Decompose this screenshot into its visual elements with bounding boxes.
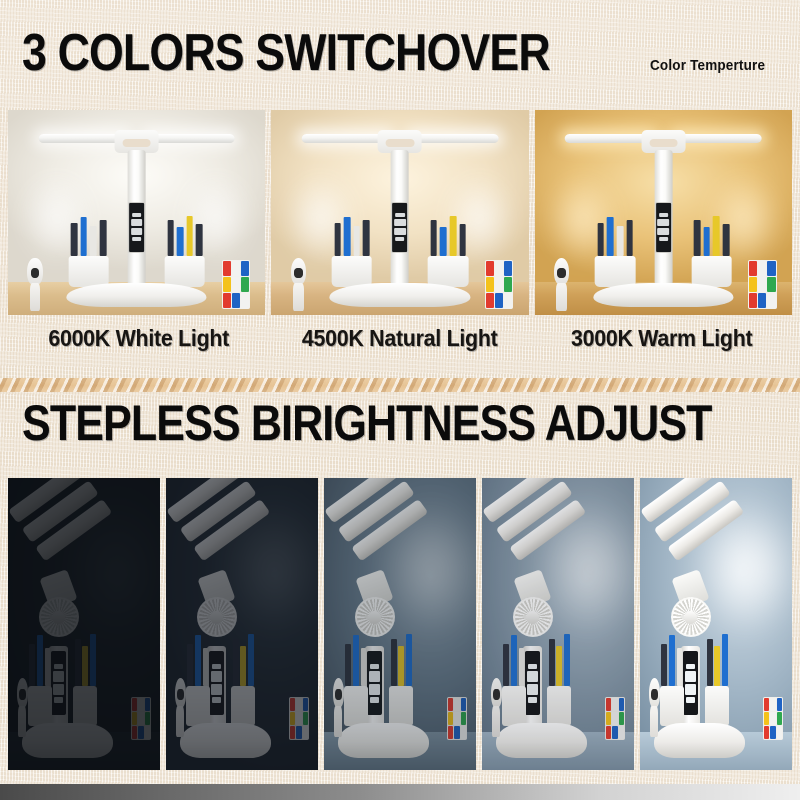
subtitle-color-temperature: Color Temperture (650, 57, 765, 74)
lamp-product (300, 126, 501, 306)
lcd-clock-display (367, 651, 382, 715)
pen-holder-right (705, 686, 729, 726)
lamp-base (22, 723, 113, 758)
page-title-brightness: STEPLESS BIRIGHTNESS ADJUST (22, 400, 712, 446)
lamp-product (36, 126, 237, 306)
led-arm (324, 478, 448, 589)
caption-3000k: 3000K Warm Light (540, 325, 783, 352)
lamp-base (338, 723, 429, 758)
led-bar-right-icon (673, 134, 761, 143)
pen-holder-left (502, 686, 526, 726)
pen-holder-right (231, 686, 255, 726)
rubiks-cube (763, 697, 783, 740)
infographic-page: 3 COLORS SWITCHOVER Color Temperture (0, 0, 800, 800)
pen-holder-left (68, 256, 108, 287)
lamp-product (17, 490, 151, 759)
pens-right (430, 210, 465, 256)
pens-right (694, 210, 729, 256)
pen-holder-left (332, 256, 372, 287)
robot-figurine (648, 678, 661, 737)
pens-left (71, 210, 106, 256)
lamp-product (175, 490, 309, 759)
led-bar-right-icon (410, 134, 498, 143)
pen-holder-right (389, 686, 413, 726)
rubiks-cube (447, 697, 467, 740)
pen-holder-right (691, 256, 731, 287)
lamp-base (496, 723, 587, 758)
page-title-colors: 3 COLORS SWITCHOVER (22, 30, 550, 78)
lamp-base (180, 723, 271, 758)
led-arm (166, 478, 290, 589)
led-arm (482, 478, 606, 589)
pens-right (167, 210, 202, 256)
robot-figurine (289, 258, 307, 311)
lamp-product (491, 490, 625, 759)
pen-holder-left (344, 686, 368, 726)
rubiks-cube (289, 697, 309, 740)
pen-holder-left (186, 686, 210, 726)
lamp-base (654, 723, 745, 758)
led-bar-right-icon (147, 134, 235, 143)
lcd-clock-display (128, 202, 145, 253)
section-heading-brightness: STEPLESS BIRIGHTNESS ADJUST 5 - 100% (22, 400, 800, 446)
pen-holder-right (547, 686, 571, 726)
lamp-product (333, 490, 467, 759)
lcd-clock-display (655, 202, 672, 253)
photo-panel-brightness-75[interactable] (482, 478, 634, 770)
photo-panel-brightness-25[interactable] (166, 478, 318, 770)
photo-panel-brightness-100[interactable] (640, 478, 792, 770)
pen-holder-right (73, 686, 97, 726)
lcd-clock-display (525, 651, 540, 715)
pens-left (334, 210, 369, 256)
pen-holder-left (595, 256, 635, 287)
rubiks-cube (485, 260, 513, 309)
lcd-clock-display (683, 651, 698, 715)
pens-left (597, 210, 632, 256)
lamp-base (66, 283, 206, 306)
led-bar-left-icon (565, 134, 653, 143)
pen-holder-right (165, 256, 205, 287)
led-arm (8, 478, 132, 589)
rubiks-cube (131, 697, 151, 740)
rubiks-cube (222, 260, 250, 309)
rubiks-cube (748, 260, 776, 309)
robot-figurine (332, 678, 345, 737)
photo-panel-6000k[interactable] (8, 110, 265, 315)
color-temperature-captions: 6000K White Light 4500K Natural Light 30… (8, 325, 792, 352)
footer-strip (0, 784, 800, 800)
led-arm (640, 478, 764, 589)
pen-holder-left (660, 686, 684, 726)
robot-figurine (26, 258, 44, 311)
color-temperature-gallery (8, 110, 792, 315)
caption-6000k: 6000K White Light (17, 325, 260, 352)
pen-holder-right (428, 256, 468, 287)
photo-panel-brightness-50[interactable] (324, 478, 476, 770)
photo-panel-4500k[interactable] (271, 110, 528, 315)
lcd-clock-display (51, 651, 66, 715)
lcd-clock-display (209, 651, 224, 715)
lcd-clock-display (391, 202, 408, 253)
section-heading-colors: 3 COLORS SWITCHOVER Color Temperture (22, 30, 778, 78)
lamp-base (593, 283, 733, 306)
led-bar-left-icon (38, 134, 126, 143)
robot-figurine (174, 678, 187, 737)
lamp-base (330, 283, 470, 306)
brightness-gallery (8, 478, 792, 770)
robot-figurine (16, 678, 29, 737)
pen-holder-left (28, 686, 52, 726)
led-bar-left-icon (302, 134, 390, 143)
photo-panel-3000k[interactable] (535, 110, 792, 315)
rubiks-cube (605, 697, 625, 740)
lamp-product (563, 126, 764, 306)
robot-figurine (490, 678, 503, 737)
section-divider (0, 378, 800, 392)
robot-figurine (553, 258, 571, 311)
lamp-product (649, 490, 783, 759)
caption-4500k: 4500K Natural Light (278, 325, 521, 352)
photo-panel-brightness-5[interactable] (8, 478, 160, 770)
